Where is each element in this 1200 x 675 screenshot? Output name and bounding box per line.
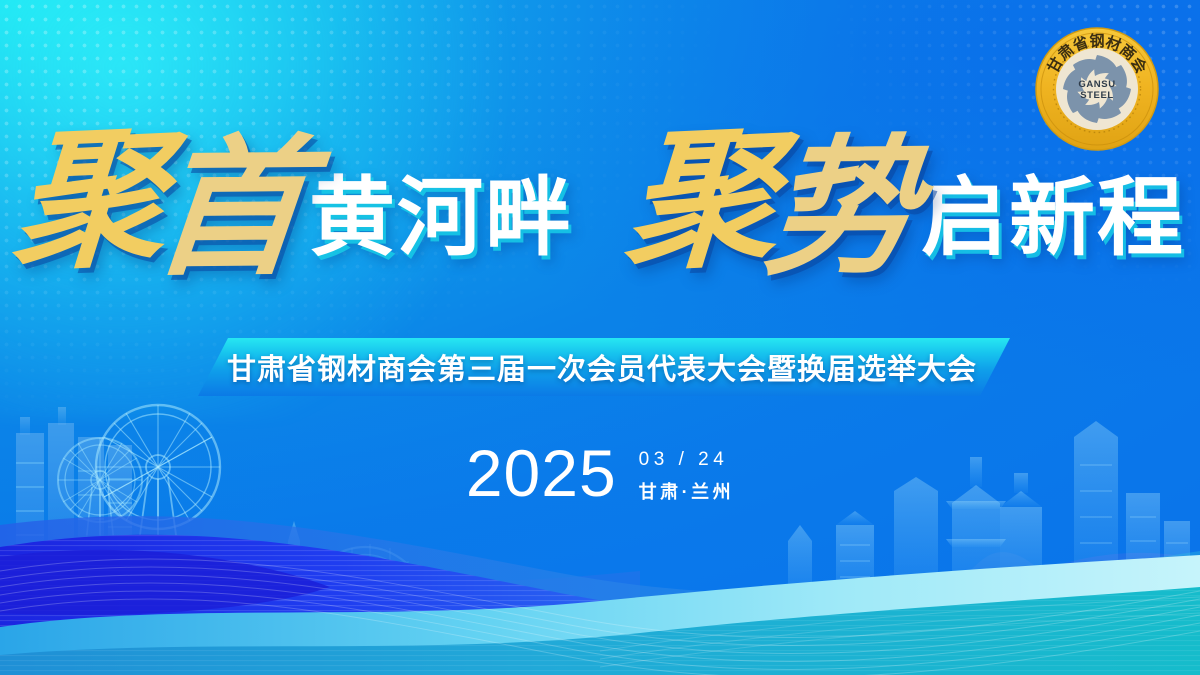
- event-year: 2025: [466, 440, 617, 506]
- date-location-block: 2025 03 / 24 甘肃·兰州: [0, 440, 1200, 506]
- subtitle-ribbon: 甘肃省钢材商会第三届一次会员代表大会暨换届选举大会: [198, 338, 1010, 396]
- event-location: 甘肃·兰州: [639, 478, 735, 504]
- organization-logo[interactable]: 甘肃省钢材商会 GANSU STEEL: [1032, 24, 1162, 154]
- subtitle-text: 甘肃省钢材商会第三届一次会员代表大会暨换届选举大会: [227, 346, 977, 388]
- event-day: 03 / 24: [639, 449, 735, 471]
- logo-center-line1: GANSU: [1078, 79, 1115, 90]
- logo-center-line2: STEEL: [1080, 90, 1114, 101]
- wave-decoration: [0, 375, 1200, 675]
- event-poster: 甘肃省钢材商会 GANSU STEEL 聚首 黄河畔 聚势 启新程 甘肃省钢材商…: [0, 0, 1200, 675]
